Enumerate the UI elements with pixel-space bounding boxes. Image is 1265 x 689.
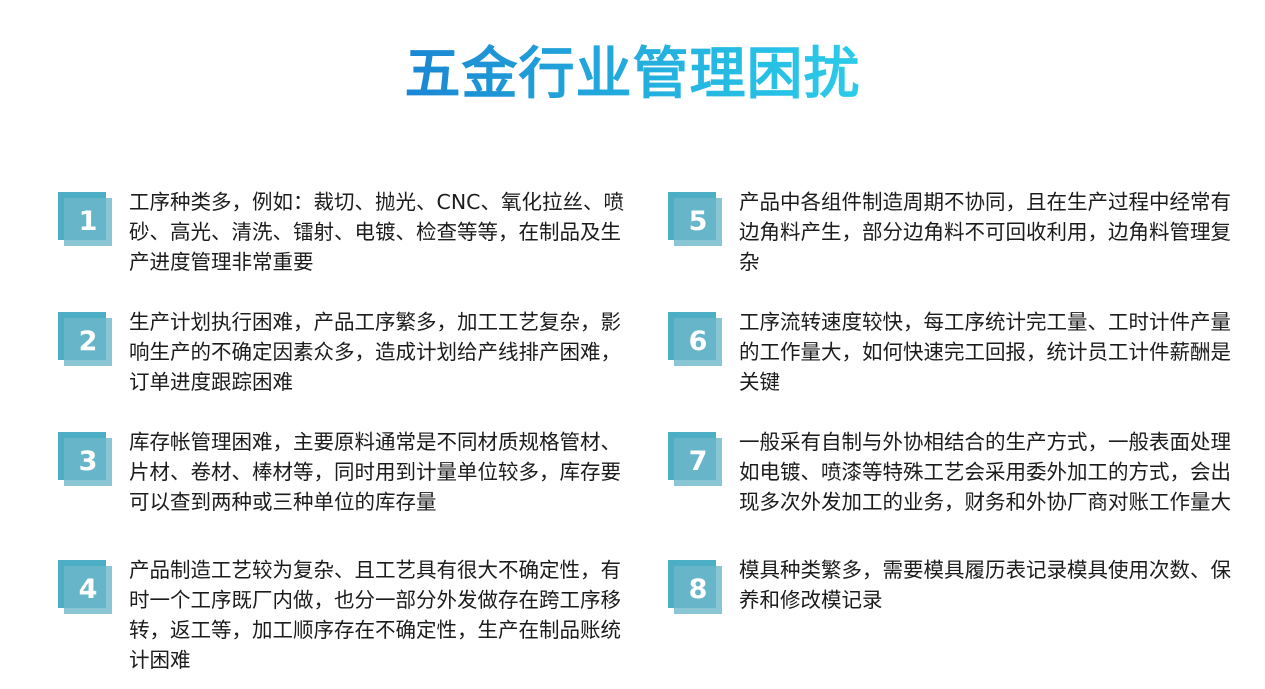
title-container: 五金行业管理困扰 <box>0 44 1265 107</box>
number-badge: 6 <box>660 309 722 371</box>
list-item: 5 产品中各组件制造周期不协同，且在生产过程中经常有边角料产生，部分边角料不可回… <box>660 186 1235 277</box>
list-item: 6 工序流转速度较快，每工序统计完工量、工时计件产量的工作量大，如何快速完工回报… <box>660 306 1235 397</box>
badge-front-square: 6 <box>674 318 722 366</box>
badge-front-square: 2 <box>64 318 112 366</box>
number-badge: 7 <box>660 429 722 491</box>
content-columns: 1 工序种类多，例如：裁切、抛光、CNC、氧化拉丝、喷砂、高光、清洗、镭射、电镀… <box>0 186 1265 686</box>
number-badge: 3 <box>50 429 112 491</box>
number-badge: 1 <box>50 189 112 251</box>
badge-number: 2 <box>79 328 98 355</box>
list-item-text: 工序流转速度较快，每工序统计完工量、工时计件产量的工作量大，如何快速完工回报，统… <box>739 306 1235 397</box>
list-item: 1 工序种类多，例如：裁切、抛光、CNC、氧化拉丝、喷砂、高光、清洗、镭射、电镀… <box>50 186 625 277</box>
list-item-text: 库存帐管理困难，主要原料通常是不同材质规格管材、片材、卷材、棒材等，同时用到计量… <box>129 426 625 517</box>
number-badge: 8 <box>660 557 722 619</box>
badge-number: 6 <box>689 328 708 355</box>
list-item: 3 库存帐管理困难，主要原料通常是不同材质规格管材、片材、卷材、棒材等，同时用到… <box>50 426 625 517</box>
badge-number: 8 <box>689 576 708 603</box>
badge-front-square: 8 <box>674 566 722 614</box>
badge-number: 5 <box>689 208 708 235</box>
badge-number: 1 <box>79 208 98 235</box>
badge-front-square: 3 <box>64 438 112 486</box>
page-title: 五金行业管理困扰 <box>405 44 861 107</box>
badge-number: 4 <box>79 576 98 603</box>
list-item-text: 产品制造工艺较为复杂、且工艺具有很大不确定性，有时一个工序既厂内做，也分一部分外… <box>129 554 625 675</box>
slide-root: 五金行业管理困扰 1 工序种类多，例如：裁切、抛光、CNC、氧化拉丝、喷砂、高光… <box>0 0 1265 689</box>
list-item: 8 模具种类繁多，需要模具履历表记录模具使用次数、保养和修改模记录 <box>660 554 1235 619</box>
badge-front-square: 7 <box>674 438 722 486</box>
badge-number: 7 <box>689 448 708 475</box>
badge-front-square: 1 <box>64 198 112 246</box>
list-item: 7 一般采有自制与外协相结合的生产方式，一般表面处理如电镀、喷漆等特殊工艺会采用… <box>660 426 1235 517</box>
list-item: 4 产品制造工艺较为复杂、且工艺具有很大不确定性，有时一个工序既厂内做，也分一部… <box>50 554 625 675</box>
list-item-text: 一般采有自制与外协相结合的生产方式，一般表面处理如电镀、喷漆等特殊工艺会采用委外… <box>739 426 1235 517</box>
badge-front-square: 4 <box>64 566 112 614</box>
list-item-text: 生产计划执行困难，产品工序繁多，加工工艺复杂，影响生产的不确定因素众多，造成计划… <box>129 306 625 397</box>
badge-front-square: 5 <box>674 198 722 246</box>
list-item: 2 生产计划执行困难，产品工序繁多，加工工艺复杂，影响生产的不确定因素众多，造成… <box>50 306 625 397</box>
list-item-text: 产品中各组件制造周期不协同，且在生产过程中经常有边角料产生，部分边角料不可回收利… <box>739 186 1235 277</box>
badge-number: 3 <box>79 448 98 475</box>
number-badge: 2 <box>50 309 112 371</box>
list-item-text: 工序种类多，例如：裁切、抛光、CNC、氧化拉丝、喷砂、高光、清洗、镭射、电镀、检… <box>129 186 625 277</box>
number-badge: 4 <box>50 557 112 619</box>
number-badge: 5 <box>660 189 722 251</box>
list-item-text: 模具种类繁多，需要模具履历表记录模具使用次数、保养和修改模记录 <box>739 554 1235 615</box>
